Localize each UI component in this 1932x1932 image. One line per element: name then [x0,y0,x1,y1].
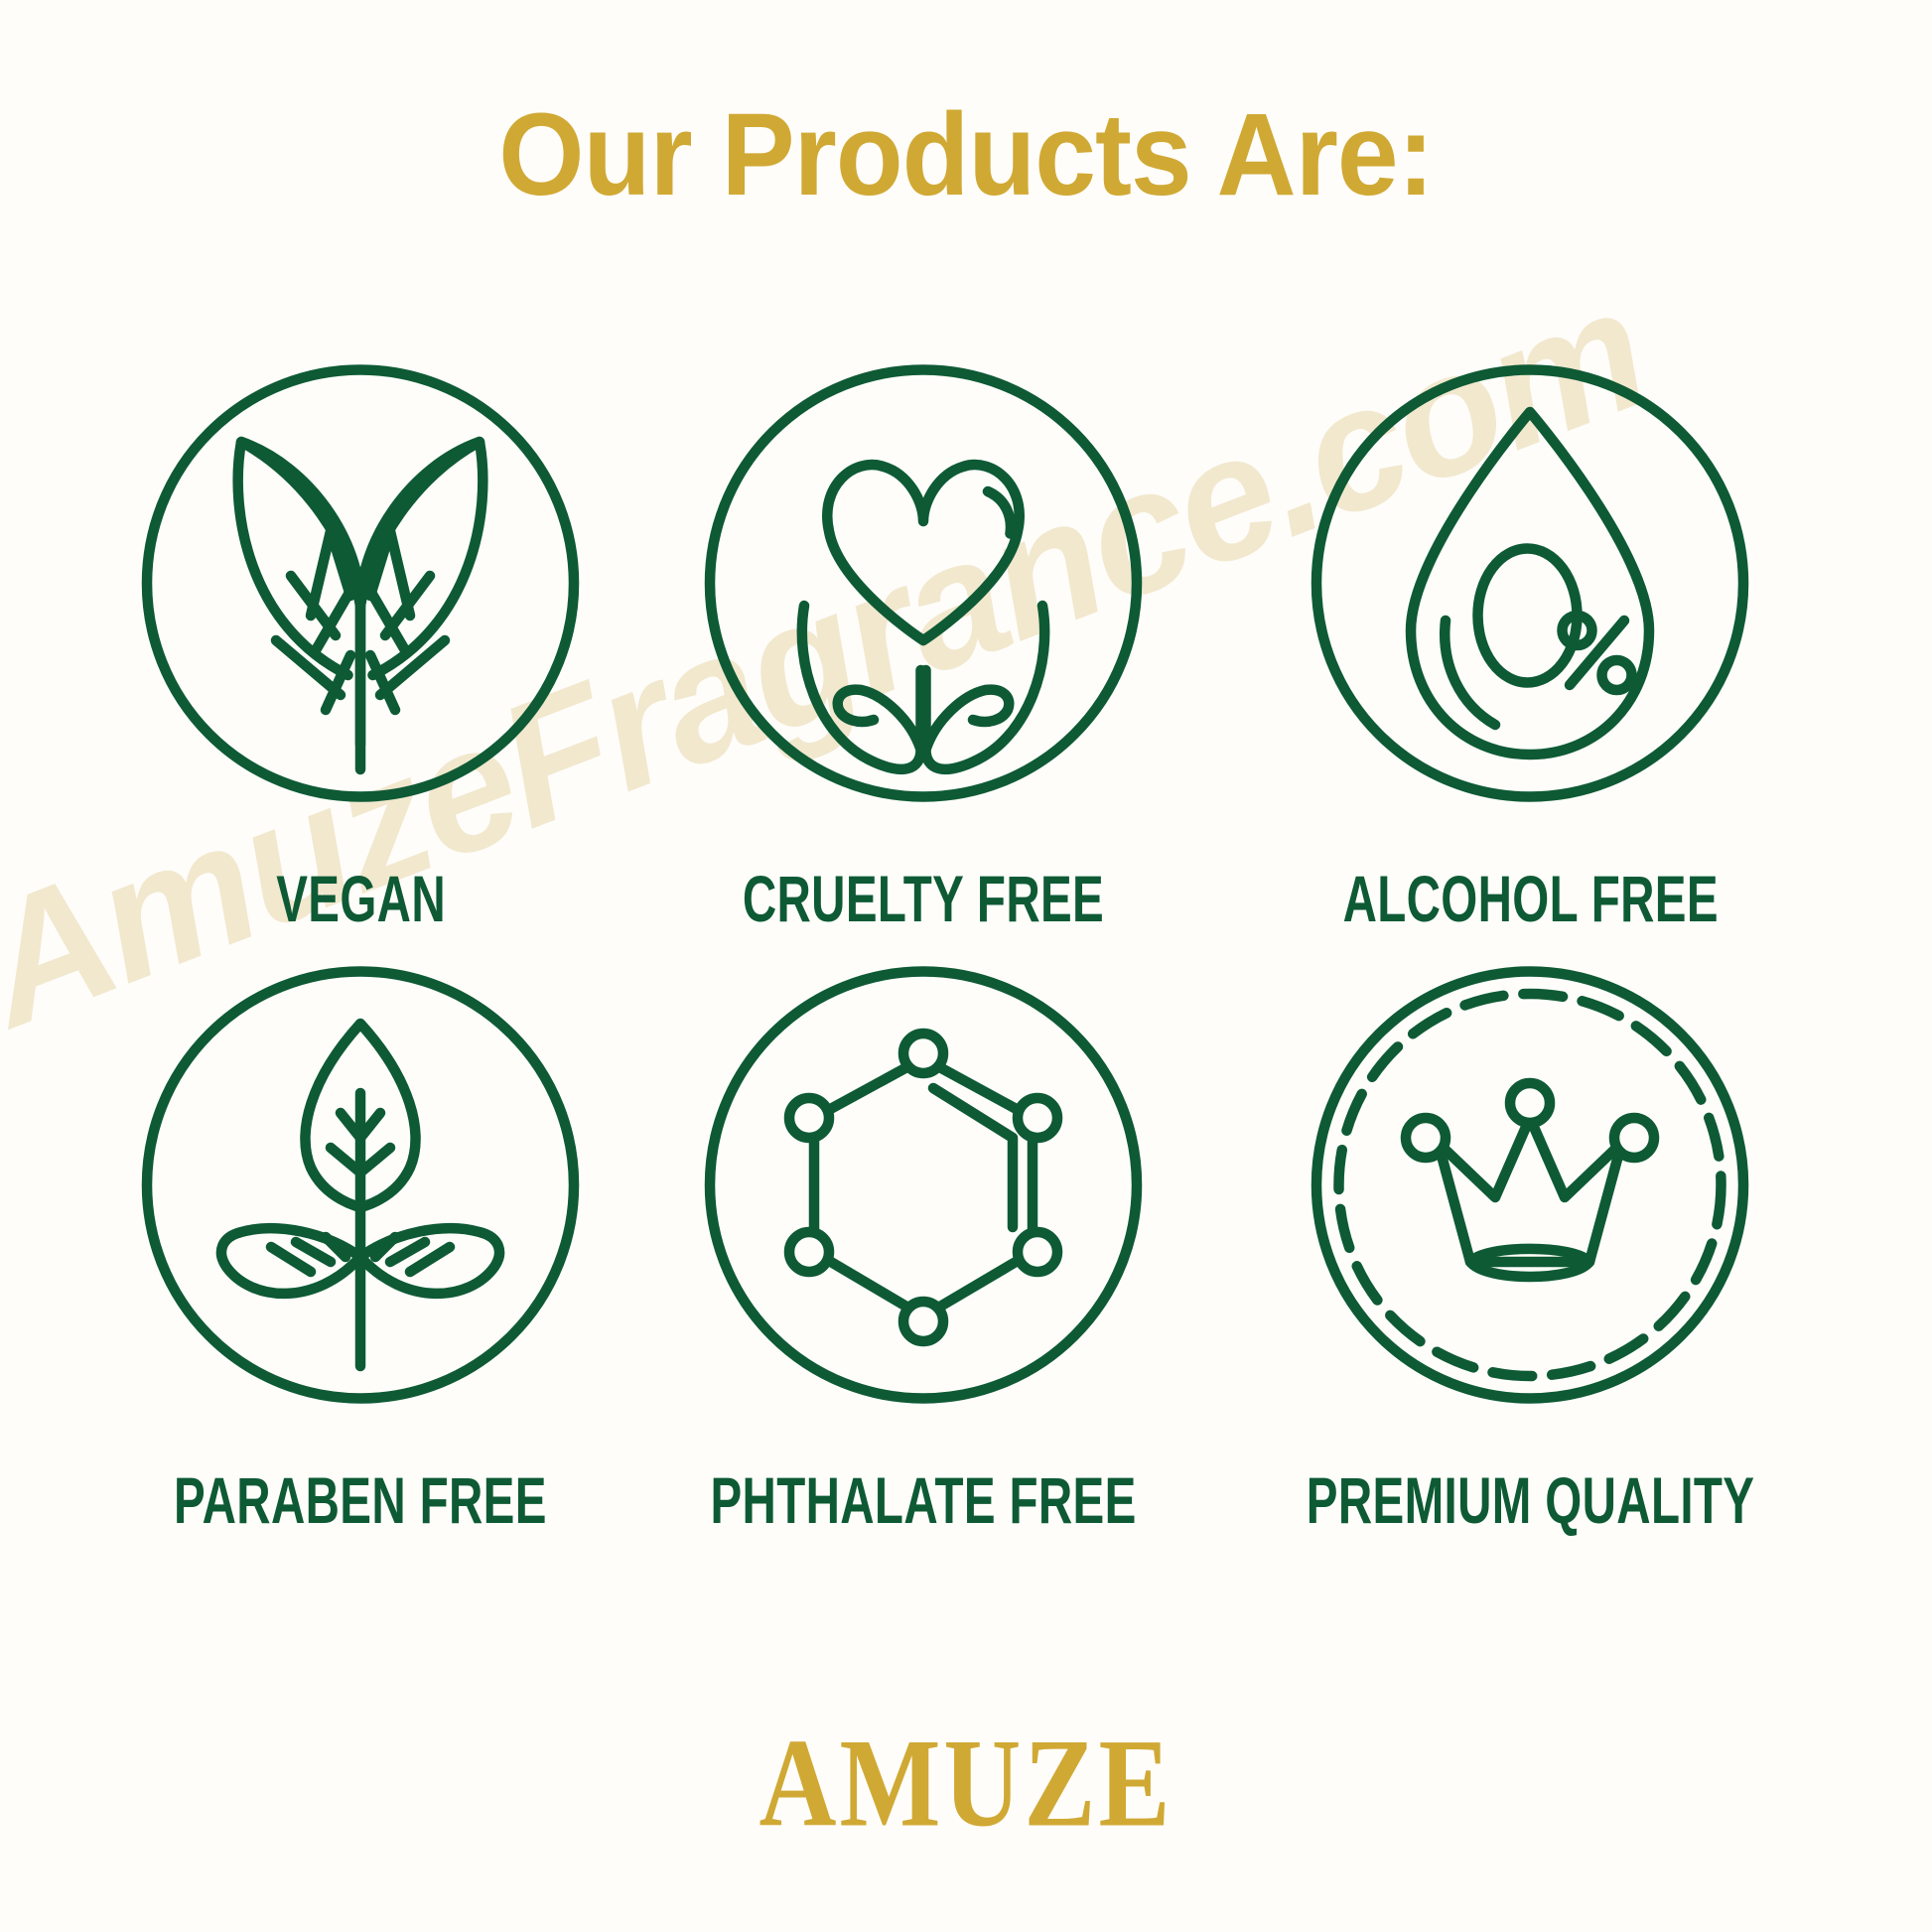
badge-cruelty-free: CRUELTY FREE [627,347,1219,931]
badge-label: PREMIUM QUALITY [1307,1467,1755,1533]
badge-label: PARABEN FREE [175,1467,548,1533]
badge-phthalate-free: PHTHALATE FREE [627,949,1219,1533]
badge-label: PHTHALATE FREE [710,1467,1136,1533]
badge-grid: VEGAN [94,347,1842,1533]
badge-label: ALCOHOL FREE [1342,866,1718,931]
page-title: Our Products Are: [58,94,1873,217]
heart-in-hands-icon [675,347,1172,864]
crown-icon [1282,949,1778,1465]
brand-logo-text: AMUZE [759,1721,1173,1847]
badge-label: VEGAN [276,866,446,931]
badge-paraben-free: PARABEN FREE [94,949,627,1533]
water-drop-zero-percent-icon [1282,347,1778,864]
badge-alcohol-free: ALCOHOL FREE [1219,347,1842,931]
badge-label: CRUELTY FREE [743,866,1104,931]
two-leaves-icon [112,347,609,864]
hexagon-molecule-icon [675,949,1172,1465]
badge-vegan: VEGAN [94,347,627,931]
leaf-sprig-icon [112,949,609,1465]
promo-graphic: Our Products Are: [0,0,1932,1932]
badge-premium-quality: PREMIUM QUALITY [1219,949,1842,1533]
brand-logo: AMUZE [0,1730,1932,1838]
